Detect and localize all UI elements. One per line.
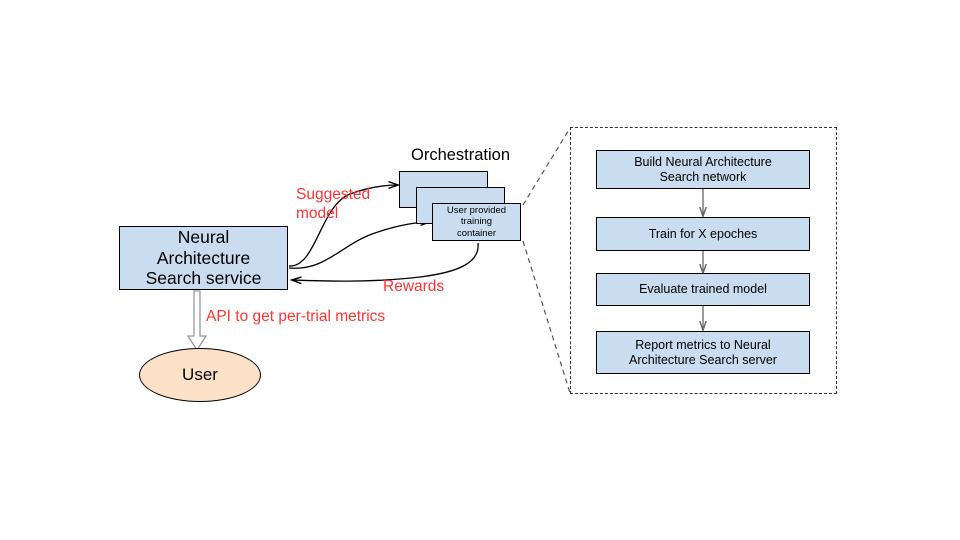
- neural-architecture-search-service-box[interactable]: Neural Architecture Search service: [119, 226, 288, 290]
- arrow-suggested-model-bottom: [289, 222, 430, 268]
- arrow-api-metrics-block: [188, 291, 206, 350]
- annotation-rewards: Rewards: [383, 278, 444, 297]
- pipeline-step-evaluate-model[interactable]: Evaluate trained model: [596, 273, 810, 306]
- annotation-suggested-model: Suggested model: [296, 186, 370, 223]
- diagram-canvas: Neural Architecture Search service User …: [0, 0, 960, 540]
- arrow-rewards: [292, 243, 478, 281]
- user-ellipse[interactable]: User: [139, 348, 261, 402]
- pipeline-step-report-metrics[interactable]: Report metrics to Neural Architecture Se…: [596, 331, 810, 374]
- annotation-api-metrics: API to get per-trial metrics: [206, 308, 385, 327]
- pipeline-step-train-epochs[interactable]: Train for X epoches: [596, 217, 810, 251]
- zoom-line-top: [523, 128, 570, 205]
- pipeline-step-build-network[interactable]: Build Neural Architecture Search network: [596, 150, 810, 189]
- zoom-line-bottom: [523, 241, 570, 393]
- user-provided-training-container-box[interactable]: User provided training container: [432, 203, 521, 241]
- orchestration-title: Orchestration: [411, 146, 510, 166]
